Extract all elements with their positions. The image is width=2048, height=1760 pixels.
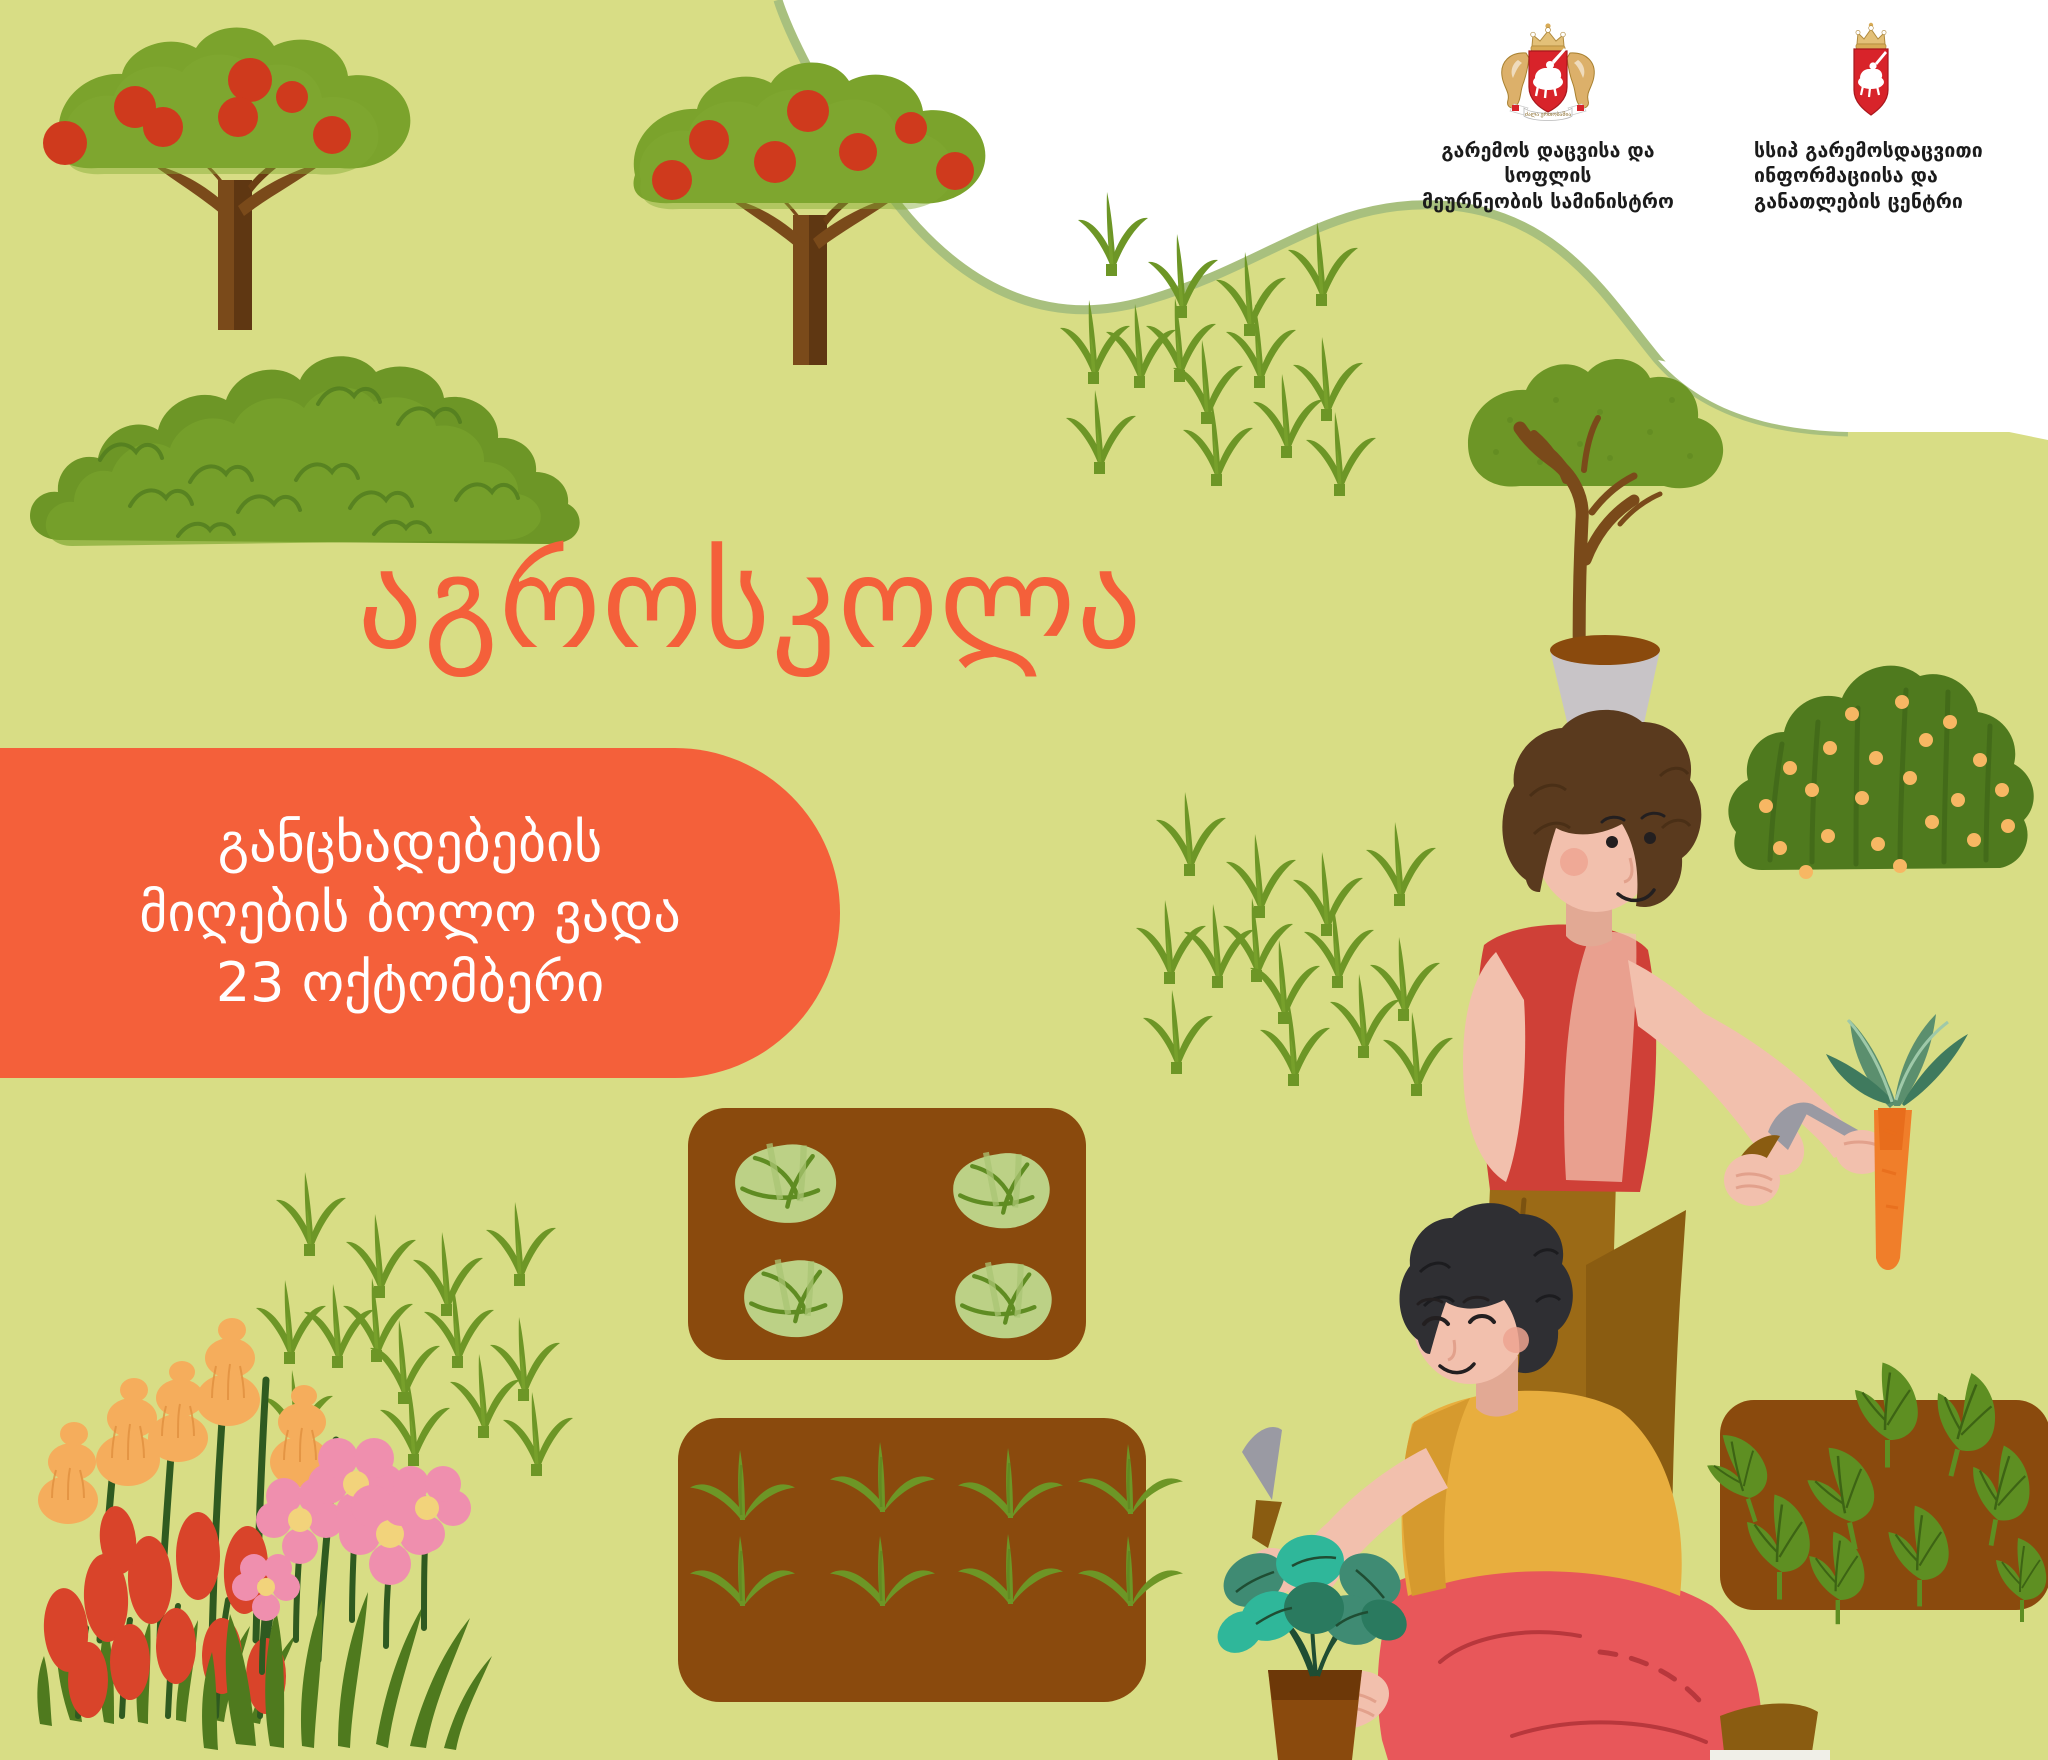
seedling-bed	[678, 1418, 1183, 1702]
carrot	[1874, 1110, 1912, 1270]
apple-tree-left	[43, 27, 410, 330]
poster-root: ძალა ერთობაშია გარემოს დაცვისა და სოფლის…	[0, 0, 2048, 1760]
flower-orange	[196, 1318, 260, 1426]
flower-cluster	[37, 1318, 492, 1750]
logo-ministry: ძალა ერთობაშია გარემოს დაცვისა და სოფლის…	[1398, 20, 1698, 214]
grass-clump	[202, 1592, 492, 1750]
svg-text:ძალა ერთობაშია: ძალა ერთობაშია	[1525, 111, 1572, 118]
flower-orange	[96, 1378, 160, 1486]
flower-red	[41, 1504, 286, 1718]
georgia-greater-coat-of-arms-icon: ძალა ერთობაშია	[1488, 20, 1608, 128]
flower-orange	[148, 1361, 208, 1462]
logo-center-caption: სსიპ გარემოსდაცვითი ინფორმაციისა და განა…	[1746, 138, 1996, 214]
logo-center: სსიპ გარემოსდაცვითი ინფორმაციისა და განა…	[1746, 20, 1996, 214]
flower-orange	[38, 1422, 98, 1524]
hedge-bush	[30, 356, 580, 546]
logo-ministry-caption: გარემოს დაცვისა და სოფლის მეურნეობის სამ…	[1398, 138, 1698, 214]
flower-orange	[270, 1385, 330, 1487]
deadline-text: განცხადებების მიღების ბოლო ვადა 23 ოქტომ…	[89, 808, 681, 1019]
lettuce-bed	[1700, 1363, 2048, 1625]
wheat-patch-left	[256, 1172, 573, 1476]
citrus-bush	[1728, 666, 2033, 879]
gardener-kneeling	[1209, 1203, 1830, 1760]
wheat-patch-middle	[1136, 792, 1453, 1096]
logo-row: ძალა ერთობაშია გარემოს დაცვისა და სოფლის…	[1398, 20, 2038, 214]
plant-leaves	[1209, 1532, 1414, 1662]
cabbage-bed	[688, 1108, 1086, 1360]
georgia-lesser-coat-of-arms-icon	[1835, 20, 1907, 128]
page-title: აგროსკოლა	[0, 540, 1500, 668]
deadline-banner: განცხადებების მიღების ბოლო ვადა 23 ოქტომ…	[0, 748, 840, 1078]
flower-pink	[232, 1438, 471, 1621]
gardener-standing	[1463, 710, 1968, 1760]
